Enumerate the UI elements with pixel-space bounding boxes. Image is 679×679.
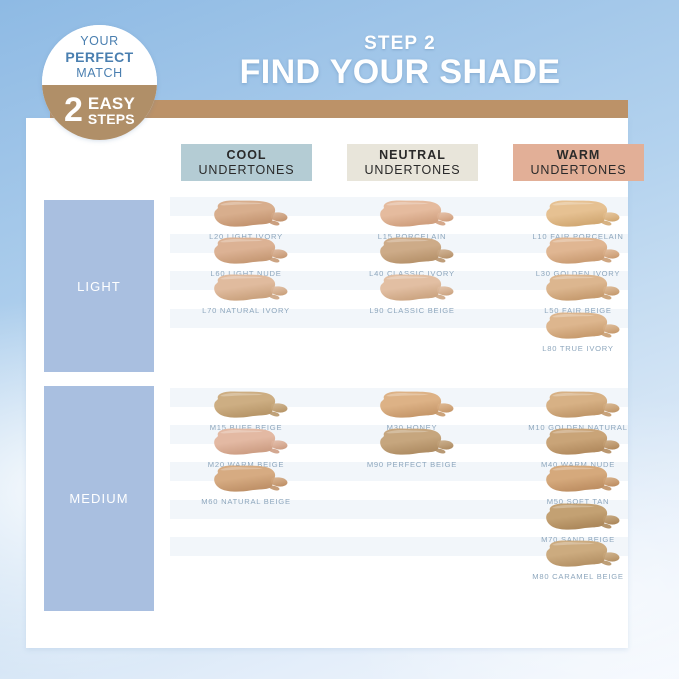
swatch-wrap bbox=[336, 273, 488, 304]
shade-name-label: M90 PERFECT BEIGE bbox=[336, 460, 488, 469]
foundation-swatch-graphic bbox=[374, 236, 460, 266]
foundation-swatch-graphic bbox=[540, 273, 626, 303]
foundation-swatch-graphic bbox=[374, 427, 460, 457]
column-header-neutral-subtitle: UNDERTONES bbox=[364, 163, 460, 178]
shade-cell[interactable]: L15 PORCELAIN bbox=[336, 199, 488, 241]
shade-cell[interactable]: M30 HONEY bbox=[336, 390, 488, 432]
foundation-swatch bbox=[540, 464, 626, 494]
badge-easy-label: EASY bbox=[88, 95, 135, 112]
swatch-wrap bbox=[170, 199, 322, 230]
column-header-cool: COOL UNDERTONES bbox=[181, 144, 312, 181]
foundation-swatch bbox=[540, 427, 626, 457]
foundation-swatch-graphic bbox=[374, 390, 460, 420]
swatch-wrap bbox=[502, 539, 654, 570]
foundation-swatch bbox=[540, 311, 626, 341]
column-header-warm: WARM UNDERTONES bbox=[513, 144, 644, 181]
shade-name-label: L90 CLASSIC BEIGE bbox=[336, 306, 488, 315]
foundation-swatch-graphic bbox=[540, 464, 626, 494]
badge-line-3: MATCH bbox=[76, 66, 123, 81]
shade-cell[interactable]: L90 CLASSIC BEIGE bbox=[336, 273, 488, 315]
page-title: FIND YOUR SHADE bbox=[180, 53, 620, 92]
badge-bottom: 2 EASY STEPS bbox=[42, 85, 157, 140]
swatch-wrap bbox=[336, 236, 488, 267]
shade-cell[interactable]: L10 FAIR PORCELAIN bbox=[502, 199, 654, 241]
foundation-swatch bbox=[540, 236, 626, 266]
row-label-medium-text: MEDIUM bbox=[69, 491, 128, 506]
foundation-swatch-graphic bbox=[208, 464, 294, 494]
swatch-wrap bbox=[502, 199, 654, 230]
foundation-swatch-graphic bbox=[540, 390, 626, 420]
shade-name-label: L80 TRUE IVORY bbox=[502, 344, 654, 353]
shade-cell[interactable]: M50 SOFT TAN bbox=[502, 464, 654, 506]
foundation-swatch bbox=[208, 390, 294, 420]
foundation-swatch bbox=[540, 539, 626, 569]
shade-name-label: M80 CARAMEL BEIGE bbox=[502, 572, 654, 581]
badge-top: YOUR PERFECT MATCH bbox=[42, 25, 157, 85]
foundation-swatch-graphic bbox=[208, 390, 294, 420]
foundation-swatch-graphic bbox=[540, 427, 626, 457]
badge-line-2: PERFECT bbox=[65, 49, 133, 66]
swatch-wrap bbox=[336, 427, 488, 458]
column-header-warm-subtitle: UNDERTONES bbox=[530, 163, 626, 178]
swatch-wrap bbox=[170, 273, 322, 304]
swatch-wrap bbox=[502, 311, 654, 342]
foundation-swatch bbox=[374, 427, 460, 457]
shade-cell[interactable]: M10 GOLDEN NATURAL bbox=[502, 390, 654, 432]
swatch-wrap bbox=[502, 390, 654, 421]
foundation-swatch-graphic bbox=[540, 539, 626, 569]
shade-cell[interactable]: L20 LIGHT IVORY bbox=[170, 199, 322, 241]
column-header-neutral: NEUTRAL UNDERTONES bbox=[347, 144, 478, 181]
foundation-swatch-graphic bbox=[208, 273, 294, 303]
shade-cell[interactable]: L50 FAIR BEIGE bbox=[502, 273, 654, 315]
shade-cell[interactable]: L80 TRUE IVORY bbox=[502, 311, 654, 353]
swatch-wrap bbox=[502, 273, 654, 304]
foundation-swatch bbox=[208, 273, 294, 303]
shade-cell[interactable]: M70 SAND BEIGE bbox=[502, 502, 654, 544]
swatch-wrap bbox=[502, 464, 654, 495]
step-label: STEP 2 bbox=[180, 33, 620, 55]
shade-cell[interactable]: M60 NATURAL BEIGE bbox=[170, 464, 322, 506]
badge-line-1: YOUR bbox=[80, 34, 119, 49]
foundation-swatch bbox=[208, 427, 294, 457]
column-header-cool-subtitle: UNDERTONES bbox=[198, 163, 294, 178]
column-header-neutral-title: NEUTRAL bbox=[379, 148, 446, 163]
swatch-wrap bbox=[170, 236, 322, 267]
swatch-wrap bbox=[336, 199, 488, 230]
shade-cell[interactable]: M15 BUFF BEIGE bbox=[170, 390, 322, 432]
foundation-swatch-graphic bbox=[374, 199, 460, 229]
shade-name-label: L70 NATURAL IVORY bbox=[170, 306, 322, 315]
foundation-swatch-graphic bbox=[540, 199, 626, 229]
foundation-swatch bbox=[374, 199, 460, 229]
foundation-swatch bbox=[374, 273, 460, 303]
foundation-swatch-graphic bbox=[208, 427, 294, 457]
foundation-swatch-graphic bbox=[540, 236, 626, 266]
row-label-light-text: LIGHT bbox=[77, 279, 121, 294]
foundation-swatch-graphic bbox=[208, 236, 294, 266]
shade-cell[interactable]: L30 GOLDEN IVORY bbox=[502, 236, 654, 278]
foundation-swatch bbox=[540, 273, 626, 303]
foundation-swatch bbox=[540, 199, 626, 229]
row-label-light: LIGHT bbox=[44, 200, 154, 372]
foundation-swatch bbox=[374, 236, 460, 266]
shade-cell[interactable]: L40 CLASSIC IVORY bbox=[336, 236, 488, 278]
column-header-cool-title: COOL bbox=[226, 148, 266, 163]
foundation-swatch bbox=[540, 502, 626, 532]
foundation-swatch bbox=[208, 464, 294, 494]
foundation-swatch-graphic bbox=[540, 502, 626, 532]
perfect-match-badge: YOUR PERFECT MATCH 2 EASY STEPS bbox=[42, 25, 157, 140]
foundation-swatch bbox=[208, 236, 294, 266]
foundation-swatch bbox=[208, 199, 294, 229]
swatch-wrap bbox=[336, 390, 488, 421]
shade-cell[interactable]: M90 PERFECT BEIGE bbox=[336, 427, 488, 469]
swatch-wrap bbox=[502, 236, 654, 267]
shade-cell[interactable]: L70 NATURAL IVORY bbox=[170, 273, 322, 315]
shade-cell[interactable]: M20 WARM BEIGE bbox=[170, 427, 322, 469]
row-label-medium: MEDIUM bbox=[44, 386, 154, 611]
shade-finder-poster: STEP 2 FIND YOUR SHADE YOUR PERFECT MATC… bbox=[0, 0, 679, 679]
foundation-swatch-graphic bbox=[374, 273, 460, 303]
badge-step-words: EASY STEPS bbox=[88, 95, 135, 126]
badge-step-number: 2 bbox=[64, 96, 83, 125]
swatch-wrap bbox=[170, 390, 322, 421]
shade-cell[interactable]: M80 CARAMEL BEIGE bbox=[502, 539, 654, 581]
swatch-wrap bbox=[502, 502, 654, 533]
swatch-wrap bbox=[170, 464, 322, 495]
swatch-wrap bbox=[502, 427, 654, 458]
swatch-wrap bbox=[170, 427, 322, 458]
foundation-swatch bbox=[374, 390, 460, 420]
foundation-swatch-graphic bbox=[208, 199, 294, 229]
badge-steps-label: STEPS bbox=[88, 112, 135, 126]
foundation-swatch-graphic bbox=[540, 311, 626, 341]
shade-name-label: M60 NATURAL BEIGE bbox=[170, 497, 322, 506]
foundation-swatch bbox=[540, 390, 626, 420]
shade-cell[interactable]: L60 LIGHT NUDE bbox=[170, 236, 322, 278]
column-header-warm-title: WARM bbox=[557, 148, 601, 163]
shade-cell[interactable]: M40 WARM NUDE bbox=[502, 427, 654, 469]
